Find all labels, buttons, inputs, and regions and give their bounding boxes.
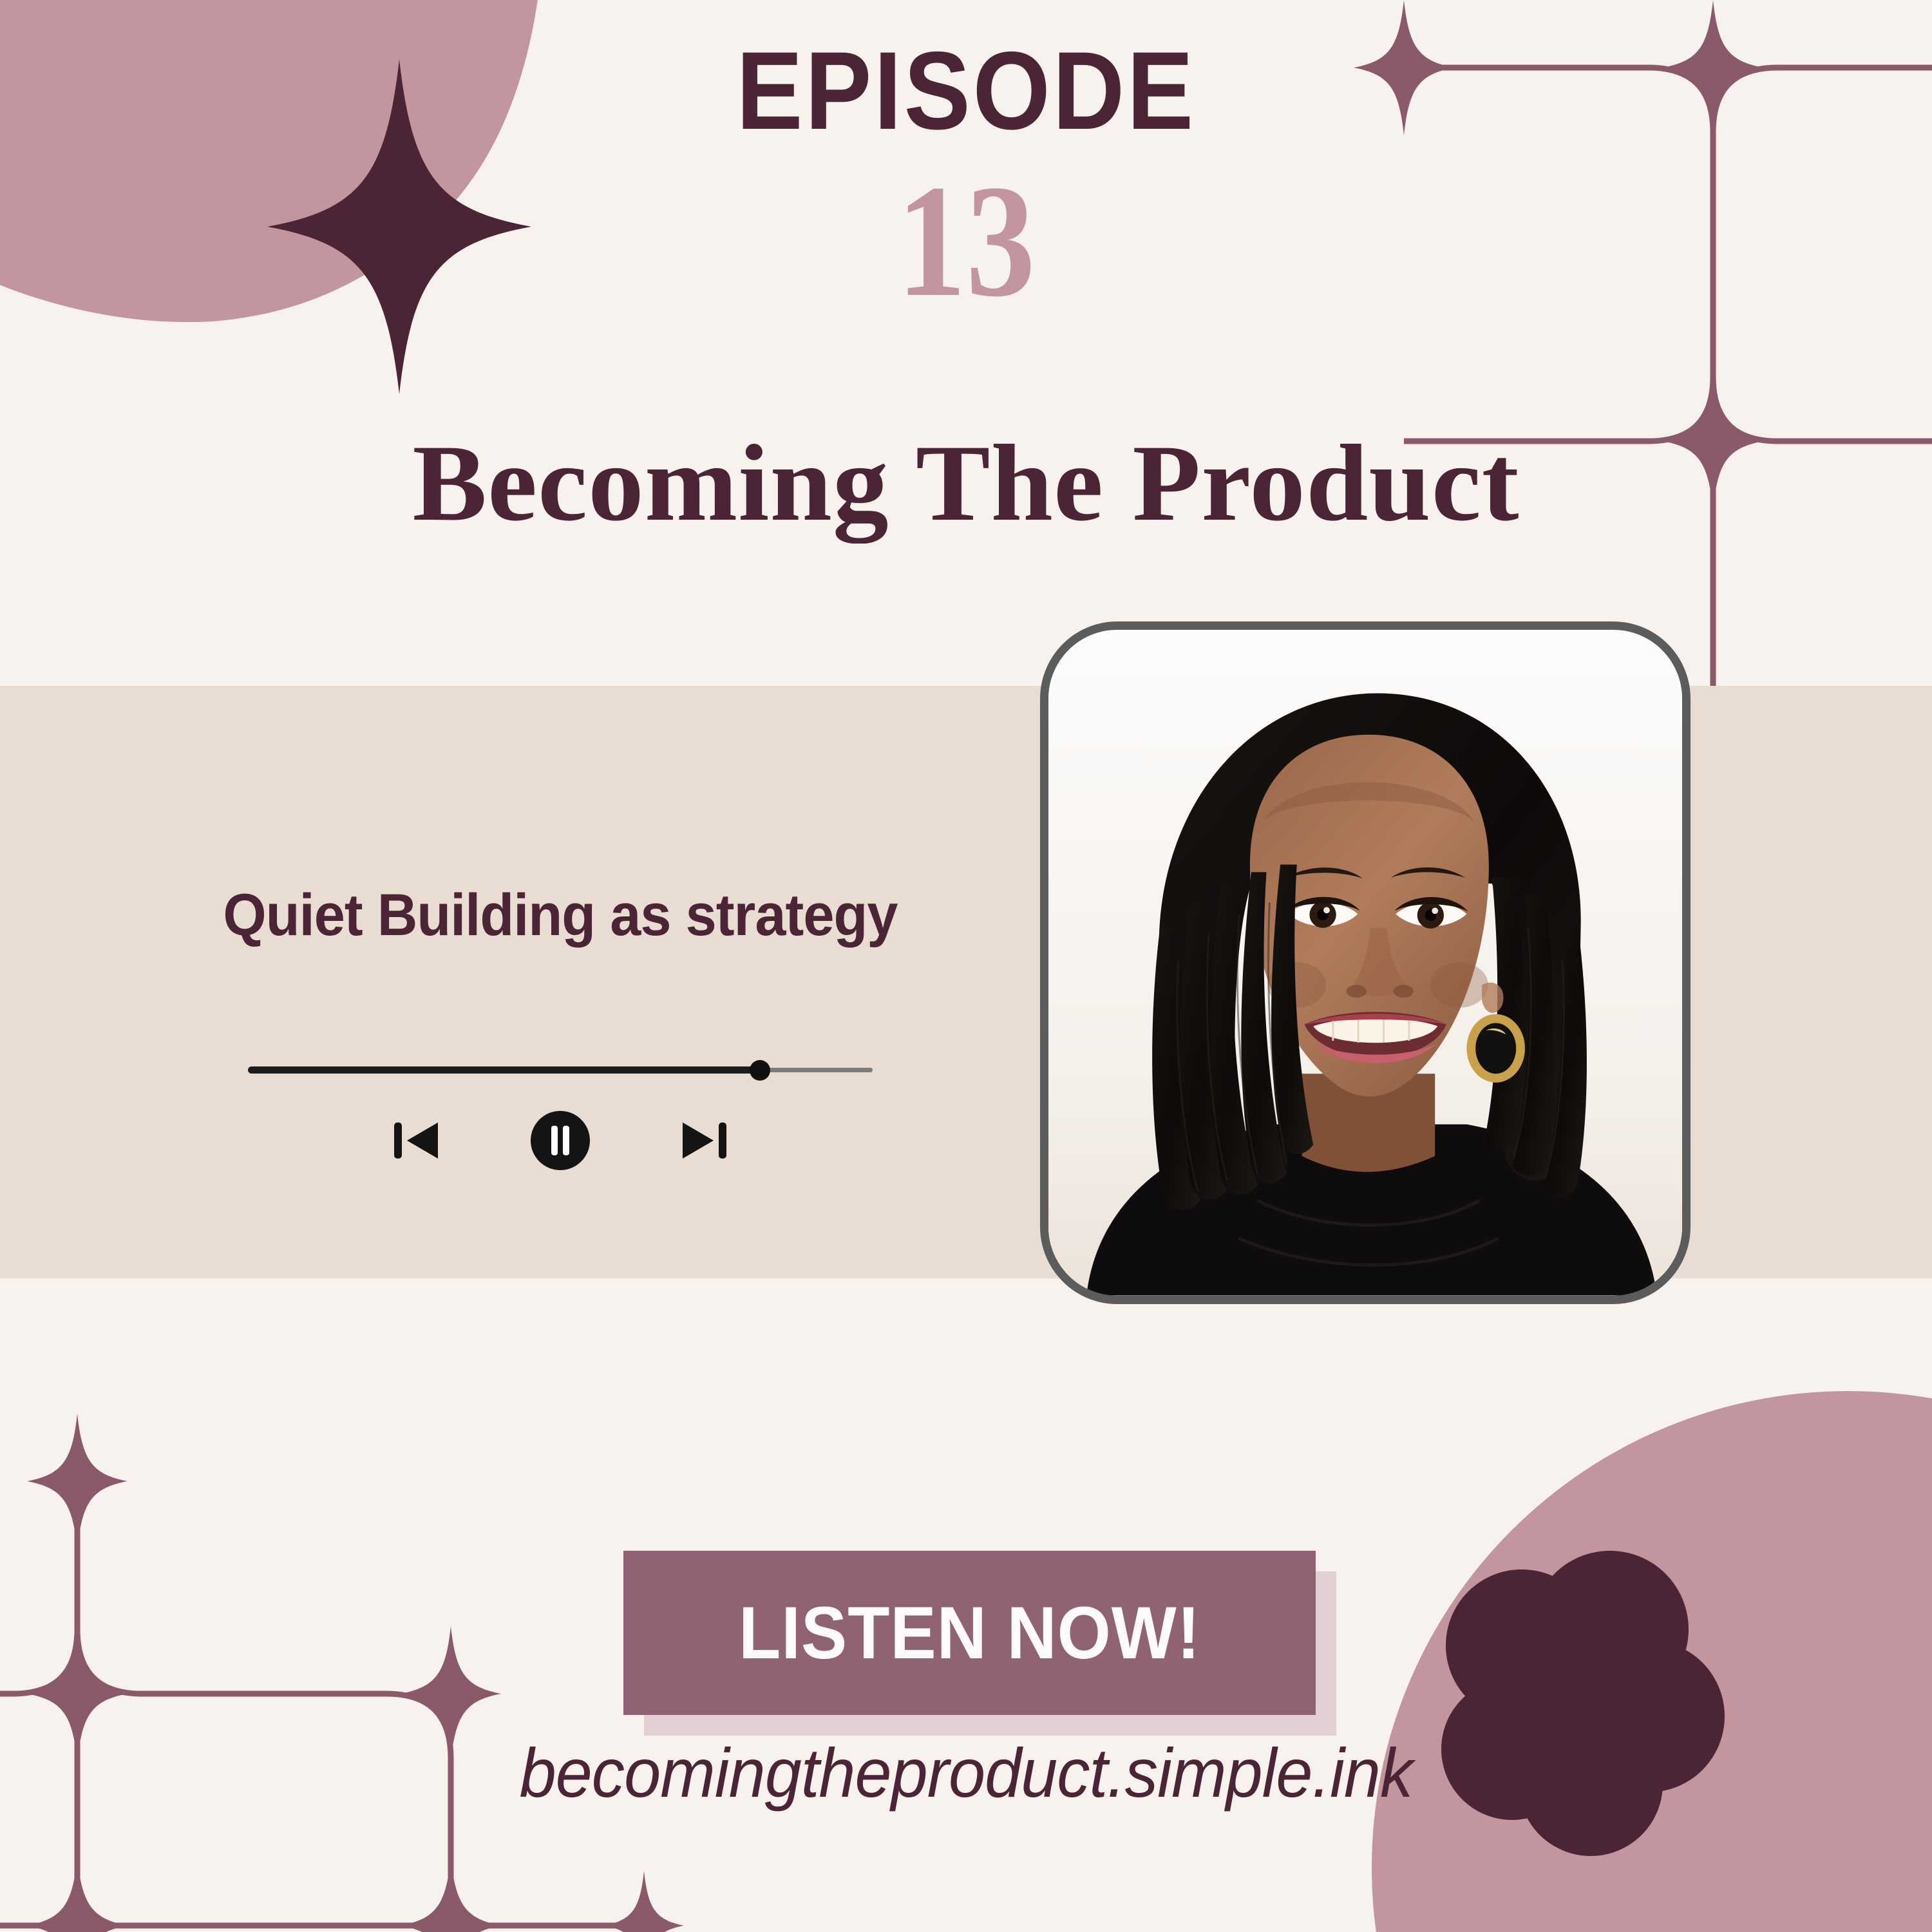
episode-word-label: EPISODE xyxy=(97,35,1835,146)
progress-fill xyxy=(248,1066,760,1074)
show-title: Becoming The Product xyxy=(0,428,1932,538)
bottom-right-blob xyxy=(1372,1391,1932,1932)
listen-now-label: LISTEN NOW! xyxy=(739,1591,1200,1676)
bottom-left-grid xyxy=(0,1481,644,1932)
podcast-episode-poster: EPISODE 13 Becoming The Product Quiet Bu… xyxy=(0,0,1932,1932)
host-portrait xyxy=(1048,630,1682,1296)
transport-controls xyxy=(193,1104,927,1177)
previous-track-icon[interactable] xyxy=(385,1110,447,1171)
website-url[interactable]: becomingtheproduct.simple.ink xyxy=(48,1732,1884,1813)
pause-button[interactable] xyxy=(524,1104,596,1177)
progress-knob[interactable] xyxy=(750,1060,770,1081)
earring xyxy=(1466,1014,1525,1083)
episode-title: Quiet Building as strategy xyxy=(215,882,905,949)
audio-player: Quiet Building as strategy xyxy=(193,882,927,949)
progress-slider[interactable] xyxy=(248,1059,873,1081)
next-track-icon[interactable] xyxy=(674,1110,735,1171)
episode-number: 13 xyxy=(135,161,1797,322)
listen-now-button[interactable]: LISTEN NOW! xyxy=(623,1551,1316,1715)
host-portrait-frame xyxy=(1040,621,1690,1304)
bottom-left-grid-sparkles xyxy=(27,1414,684,1932)
